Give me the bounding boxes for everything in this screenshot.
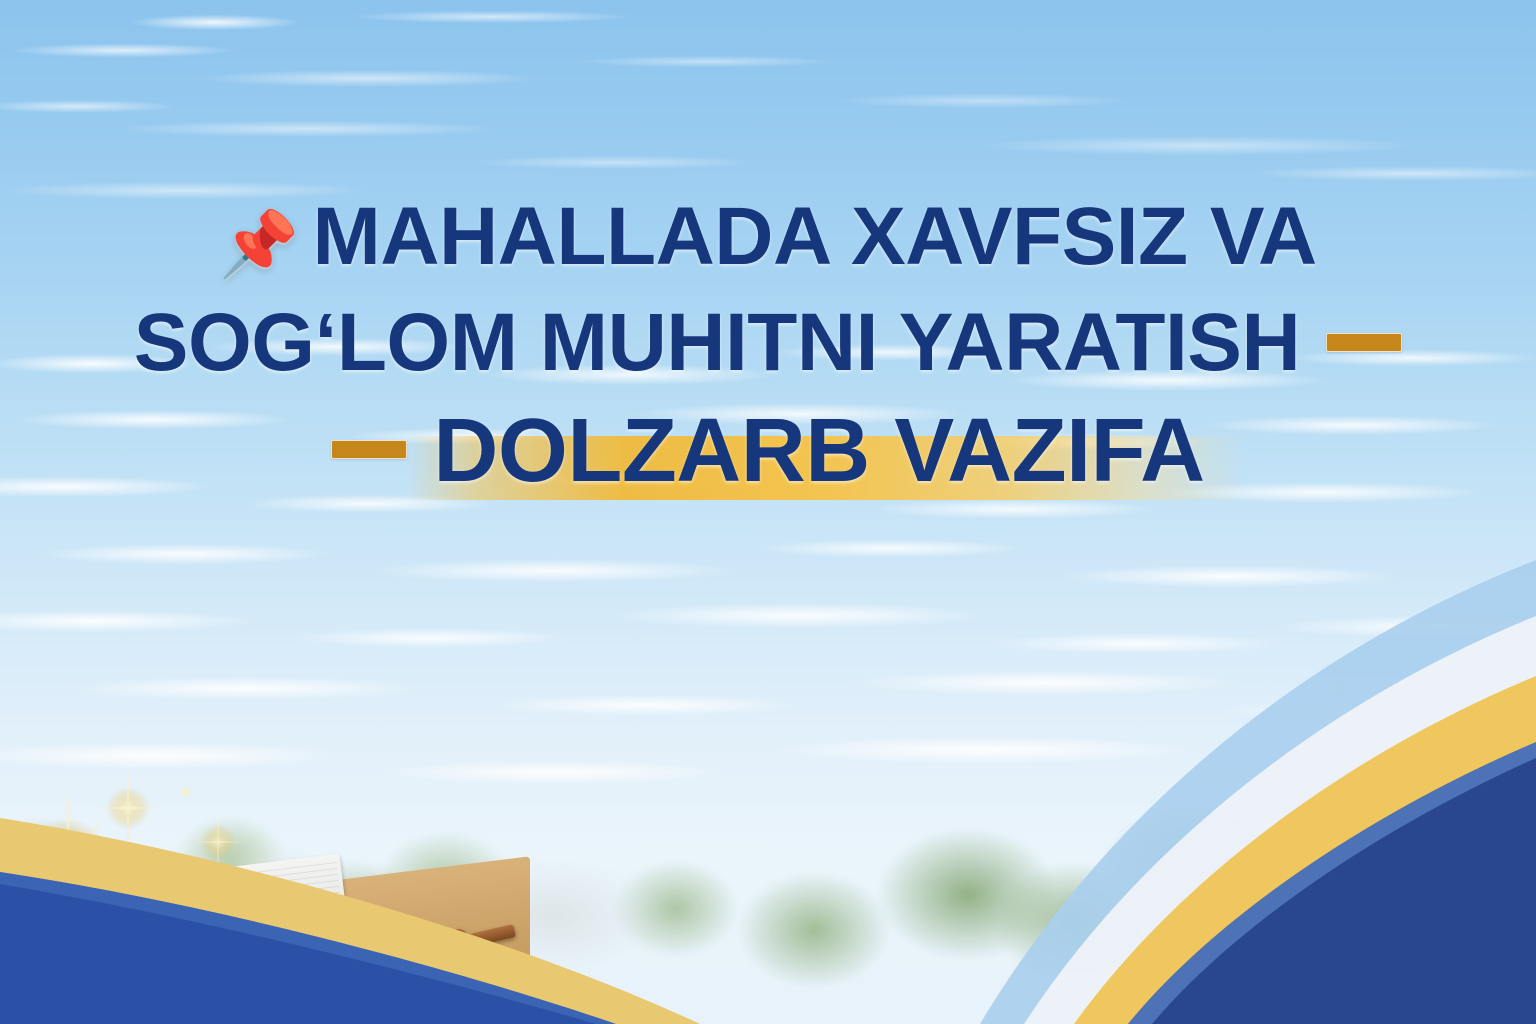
headline-line-1: 📌MAHALLADA XAVFSIZ VA <box>0 196 1536 278</box>
headline-line-3-text: DOLZARB VAZIFA <box>433 401 1204 501</box>
banner-root: 📌MAHALLADA XAVFSIZ VA SOG‘LOM MUHITNI YA… <box>0 0 1536 1024</box>
headline-line-3: DOLZARB VAZIFA <box>0 406 1536 496</box>
gold-dash-after-line-2 <box>1326 333 1402 352</box>
highlighted-phrase: DOLZARB VAZIFA <box>433 406 1204 496</box>
pushpin-icon: 📌 <box>219 212 298 276</box>
headline-line-2-text: SOG‘LOM MUHITNI YARATISH <box>134 297 1300 388</box>
gold-dash-before-line-3 <box>331 440 407 459</box>
headline: 📌MAHALLADA XAVFSIZ VA SOG‘LOM MUHITNI YA… <box>0 196 1536 496</box>
lens-right <box>226 879 290 923</box>
headline-line-2: SOG‘LOM MUHITNI YARATISH <box>0 302 1536 384</box>
headline-line-1-text: MAHALLADA XAVFSIZ VA <box>312 191 1316 282</box>
desk-scene <box>60 824 530 1024</box>
